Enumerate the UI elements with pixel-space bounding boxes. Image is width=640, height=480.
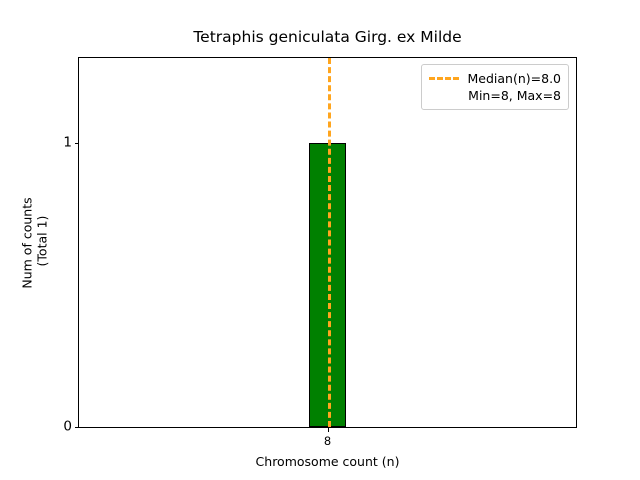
y-tick-label-0: 0 (63, 420, 72, 434)
y-axis-label: Num of counts (Total 1) (21, 57, 49, 428)
plot-inner (79, 58, 576, 427)
legend-box[interactable]: Median(n)=8.0Min=8, Max=8 (421, 64, 570, 110)
median-line-icon (328, 58, 331, 427)
y-axis-label-text: Num of counts (Total 1) (20, 197, 50, 288)
legend-label-0: Median(n)=8.0 (468, 70, 562, 87)
chart-title: Tetraphis geniculata Girg. ex Milde (78, 28, 577, 47)
legend-entry-0: Median(n)=8.0 (429, 70, 562, 87)
y-tick-mark-0 (75, 427, 80, 428)
figure-canvas: Tetraphis geniculata Girg. ex Milde Num … (0, 0, 640, 480)
x-tick-label-8: 8 (324, 435, 331, 448)
y-tick-label-1: 1 (63, 136, 72, 150)
legend-label-1: Min=8, Max=8 (468, 87, 561, 104)
plot-area: 01 8 Median(n)=8.0Min=8, Max=8 (78, 57, 577, 428)
x-axis-label: Chromosome count (n) (78, 454, 577, 469)
y-tick-mark-1 (75, 143, 80, 144)
x-tick-mark-8 (328, 427, 329, 432)
legend-entry-1: Min=8, Max=8 (429, 87, 562, 104)
legend-dashed-line-icon (429, 77, 459, 80)
